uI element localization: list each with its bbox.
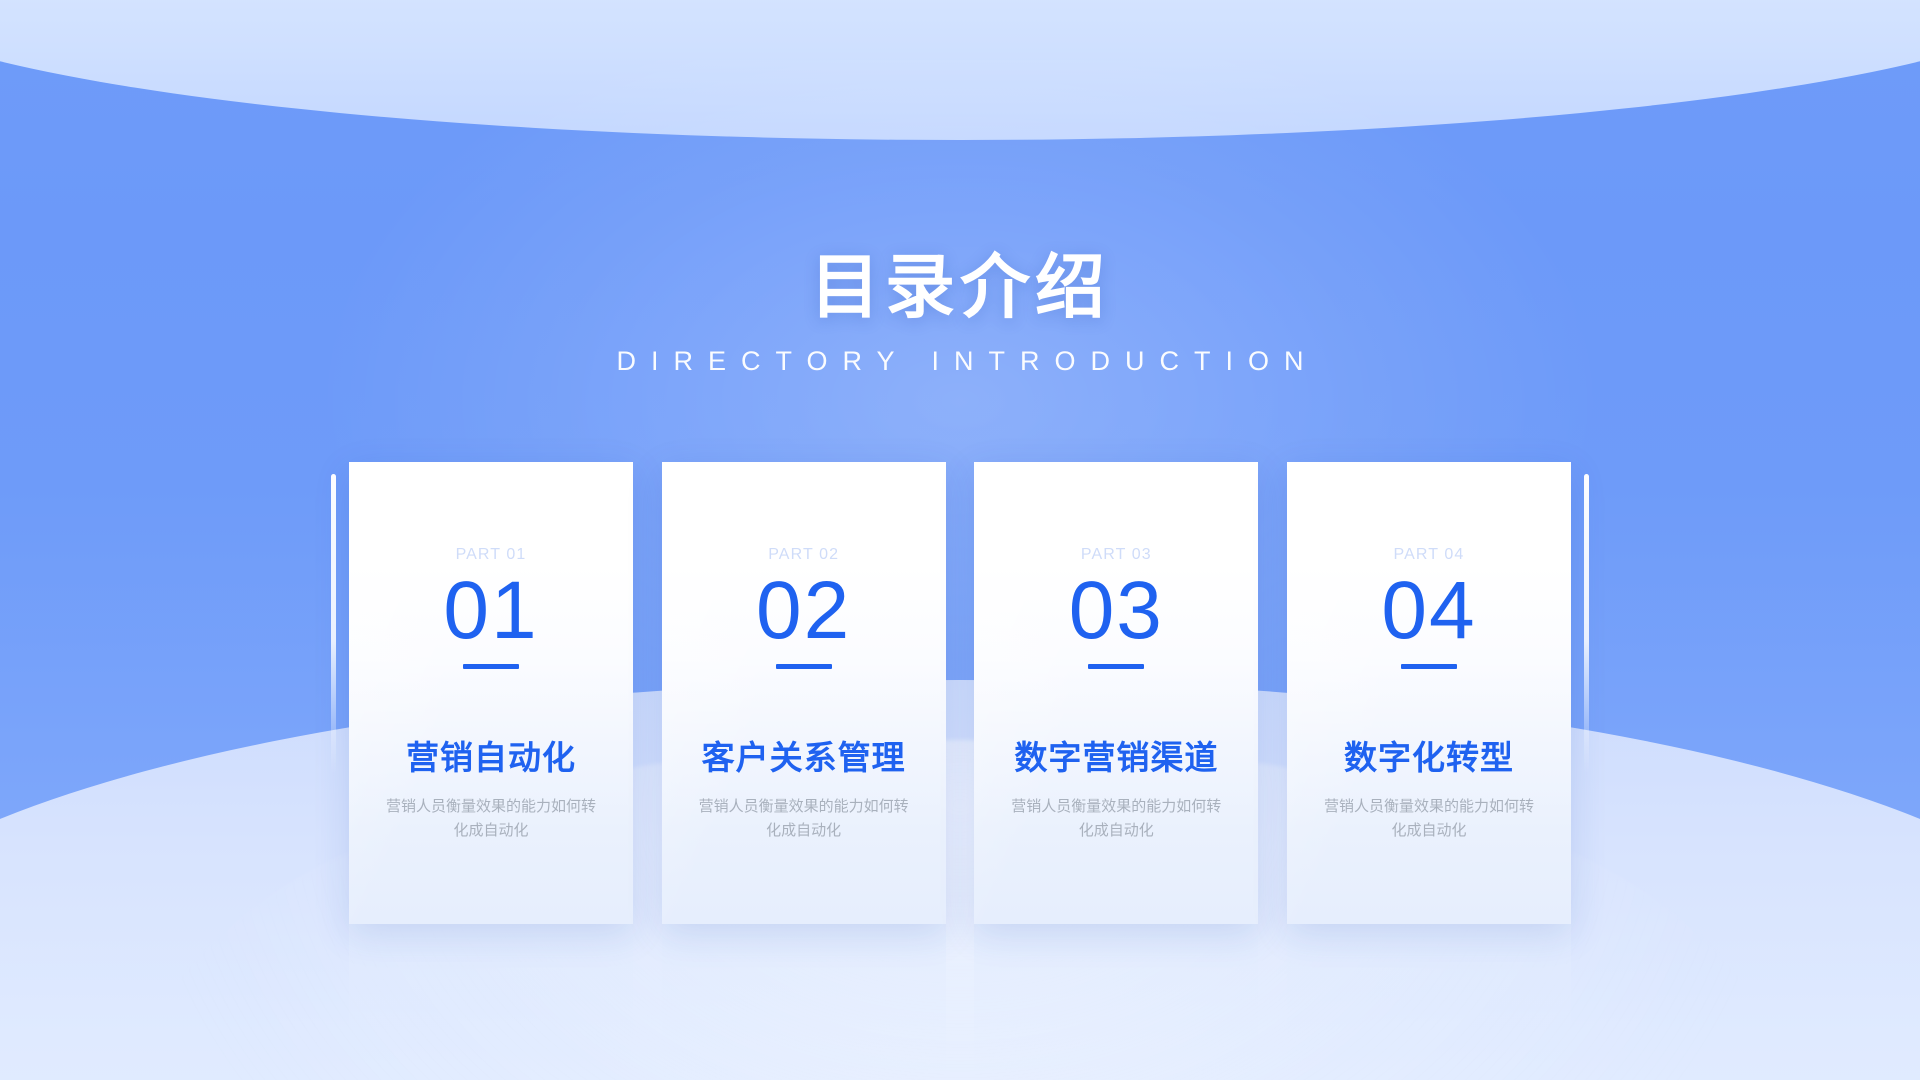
card-part-label: PART 04 [1309, 462, 1549, 564]
card-number-underline [776, 664, 832, 669]
card-part-label: PART 03 [996, 462, 1236, 564]
card-description: 营销人员衡量效果的能力如何转化成自动化 [371, 795, 611, 845]
card-description: 营销人员衡量效果的能力如何转化成自动化 [684, 795, 924, 845]
card-description: 营销人员衡量效果的能力如何转化成自动化 [1309, 795, 1549, 845]
slide-heading: 目录介绍 DIRECTORY INTRODUCTION [0, 250, 1920, 377]
card-number: 02 [684, 570, 924, 652]
card-title: 数字化转型 [1309, 738, 1549, 778]
card-title: 客户关系管理 [684, 738, 924, 778]
directory-card-1-wrapper: PART 01 01 营销自动化 营销人员衡量效果的能力如何转化成自动化 [349, 462, 633, 924]
directory-card[interactable]: PART 01 01 营销自动化 营销人员衡量效果的能力如何转化成自动化 [349, 462, 633, 924]
card-part-label: PART 02 [684, 462, 924, 564]
card-number-underline [463, 664, 519, 669]
directory-card[interactable]: PART 04 04 数字化转型 营销人员衡量效果的能力如何转化成自动化 [1287, 462, 1571, 924]
card-title: 数字营销渠道 [996, 738, 1236, 778]
directory-card-3-wrapper: PART 03 03 数字营销渠道 营销人员衡量效果的能力如何转化成自动化 [974, 462, 1258, 924]
card-number: 03 [996, 570, 1236, 652]
presentation-slide: 目录介绍 DIRECTORY INTRODUCTION PART 01 01 营… [0, 0, 1920, 1080]
page-subtitle: DIRECTORY INTRODUCTION [0, 346, 1920, 377]
card-number: 04 [1309, 570, 1549, 652]
accent-bar-left [331, 474, 336, 774]
card-part-label: PART 01 [371, 462, 611, 564]
directory-card[interactable]: PART 03 03 数字营销渠道 营销人员衡量效果的能力如何转化成自动化 [974, 462, 1258, 924]
directory-card-2-wrapper: PART 02 02 客户关系管理 营销人员衡量效果的能力如何转化成自动化 [662, 462, 946, 924]
accent-bar-right [1584, 474, 1589, 774]
page-title: 目录介绍 [0, 250, 1920, 324]
card-title: 营销自动化 [371, 738, 611, 778]
card-number-underline [1088, 664, 1144, 669]
directory-card-list: PART 01 01 营销自动化 营销人员衡量效果的能力如何转化成自动化 PAR… [349, 462, 1571, 924]
card-number: 01 [371, 570, 611, 652]
card-number-underline [1401, 664, 1457, 669]
directory-card[interactable]: PART 02 02 客户关系管理 营销人员衡量效果的能力如何转化成自动化 [662, 462, 946, 924]
directory-card-4-wrapper: PART 04 04 数字化转型 营销人员衡量效果的能力如何转化成自动化 [1287, 462, 1571, 924]
card-description: 营销人员衡量效果的能力如何转化成自动化 [996, 795, 1236, 845]
